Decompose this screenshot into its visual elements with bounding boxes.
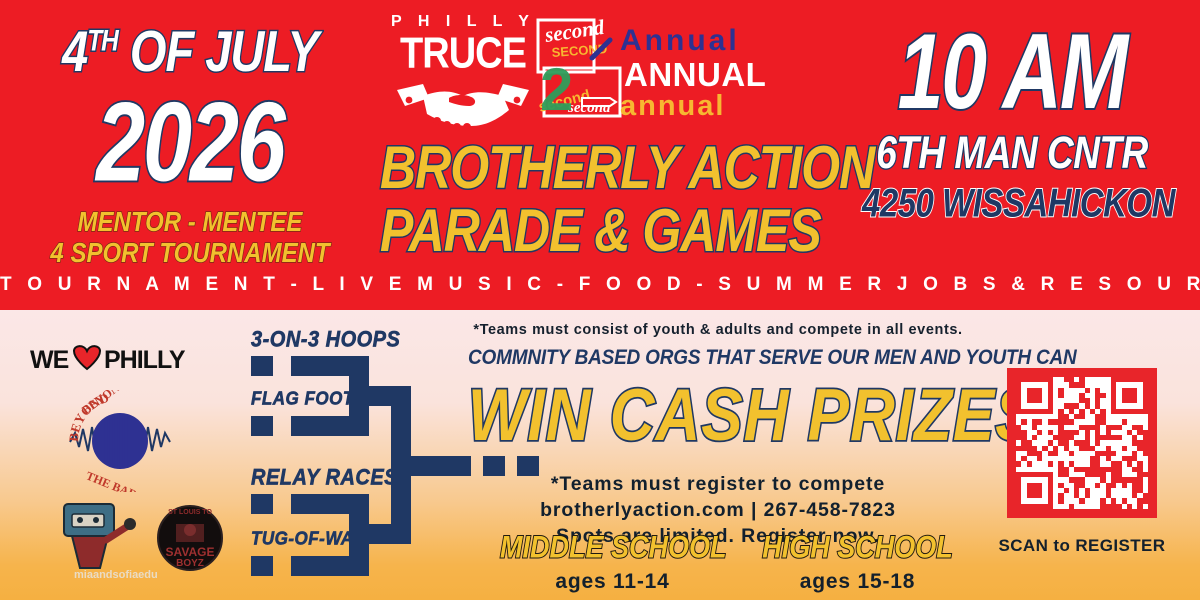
svg-text:ST LOUIS TO: ST LOUIS TO <box>168 509 212 516</box>
annual-blue-text: Annual <box>620 26 815 56</box>
date-year: 2026 <box>40 91 340 195</box>
headline-line-2: PARADE & GAMES <box>380 202 810 261</box>
sport-tournament-label: 4 SPORT TOURNAMENT <box>40 239 340 270</box>
philly-truce-wordmark-large: TRUCE <box>388 32 538 76</box>
svg-text:WE: WE <box>30 346 69 374</box>
qr-code-matrix <box>1016 377 1148 509</box>
svg-text:PHILLY: PHILLY <box>104 346 186 374</box>
date-subtitle: MENTOR - MENTEE 4 SPORT TOURNAMENT <box>40 208 340 270</box>
bracket-seed-box <box>251 556 273 576</box>
annual-yellow-text: annual <box>620 92 815 121</box>
svg-text:BEYOND: BEYOND <box>79 390 129 417</box>
bracket-connector <box>411 456 471 476</box>
beyond-the-bars-logo: BEYOND BEYOND THE BARS <box>64 390 174 490</box>
register-note: *Teams must register to compete <box>468 472 968 498</box>
date-block: 4TH OF JULY 2026 MENTOR - MENTEE 4 SPORT… <box>40 22 340 262</box>
bracket-seed-box <box>251 416 273 436</box>
annual-wordmark-stack: Annual ANNUAL annual <box>620 26 815 121</box>
svg-text:miaandsofiaedu: miaandsofiaedu <box>74 569 158 581</box>
age-divisions: MIDDLE SCHOOL ages 11-14 HIGH SCHOOL age… <box>500 532 970 594</box>
event-time: 10 AM <box>862 22 1162 123</box>
win-cash-prizes-headline: WIN CASH PRIZES <box>468 380 968 453</box>
svg-text:SAVAGE: SAVAGE <box>166 545 215 559</box>
event-flyer: 4TH OF JULY 2026 MENTOR - MENTEE 4 SPORT… <box>0 0 1200 600</box>
date-month: OF JULY <box>118 18 318 83</box>
svg-text:THE BARS: THE BARS <box>84 469 146 492</box>
top-red-banner: 4TH OF JULY 2026 MENTOR - MENTEE 4 SPORT… <box>0 0 1200 310</box>
bracket-connector <box>349 356 369 436</box>
bracket-seed-box <box>251 494 273 514</box>
savage-boyz-logo: ST LOUIS TO SAVAGE BOYZ <box>158 506 222 570</box>
qr-caption: SCAN to REGISTER <box>984 536 1180 556</box>
qr-register-block[interactable]: SCAN to REGISTER <box>984 368 1180 556</box>
philly-truce-logo: P H I L L Y TRUCE <box>388 14 538 139</box>
bracket-connector <box>391 386 411 544</box>
date-july-line: 4TH OF JULY <box>40 22 340 79</box>
logo-row: P H I L L Y TRUCE <box>380 10 810 135</box>
svg-text:2: 2 <box>540 56 573 123</box>
we-love-philly-logo: WE PHILLY <box>30 342 205 374</box>
svg-text:BOYZ: BOYZ <box>176 558 204 569</box>
handshake-icon <box>388 76 538 139</box>
bracket-label-relay: RELAY RACES <box>251 466 398 491</box>
division-high-school: HIGH SCHOOL ages 15-18 <box>745 532 970 594</box>
event-headline: BROTHERLY ACTION PARADE & GAMES <box>380 139 810 251</box>
division-ages: ages 11-14 <box>500 570 725 594</box>
division-title: HIGH SCHOOL <box>745 532 970 563</box>
bracket-seed-box <box>251 356 273 376</box>
features-ticker: T O U R N A M E N T - L I V E M U S I C … <box>0 274 1200 296</box>
event-venue: 6TH MAN CNTR <box>862 130 1162 175</box>
bottom-section: WE PHILLY BEYOND <box>0 310 1200 600</box>
date-day-ordinal: TH <box>87 25 118 58</box>
bracket-connector <box>349 494 369 574</box>
time-and-location-block: 10 AM 6TH MAN CNTR 4250 WISSAHICKON <box>862 22 1162 216</box>
center-logo-and-title: P H I L L Y TRUCE <box>380 10 810 251</box>
qr-code[interactable] <box>1007 368 1157 518</box>
philly-truce-wordmark-small: P H I L L Y <box>388 14 538 30</box>
orgs-eligibility-note: COMMNITY BASED ORGS THAT SERVE OUR MEN A… <box>468 346 968 371</box>
register-contact[interactable]: brotherlyaction.com | 267-458-7823 <box>468 498 968 524</box>
headline-line-1: BROTHERLY ACTION <box>380 139 810 198</box>
event-address: 4250 WISSAHICKON <box>862 183 1162 223</box>
prize-copy-block: *Teams must consist of youth & adults an… <box>468 322 968 550</box>
mentor-mentee-label: MENTOR - MENTEE <box>40 208 340 239</box>
sponsor-logos: WE PHILLY BEYOND <box>12 332 222 592</box>
sponsor-row-secondary: miaandsofiaedu ST LOUIS TO SAVAGE BOYZ <box>50 490 230 580</box>
teams-requirement-note: *Teams must consist of youth & adults an… <box>468 322 968 338</box>
bracket-label-hoops: 3-ON-3 HOOPS <box>251 328 400 353</box>
boombox-mascot-icon <box>64 504 136 568</box>
annual-white-text: ANNUAL <box>624 58 815 91</box>
date-day-number: 4 <box>62 18 87 83</box>
division-title: MIDDLE SCHOOL <box>500 532 725 563</box>
division-middle-school: MIDDLE SCHOOL ages 11-14 <box>500 532 725 594</box>
division-ages: ages 15-18 <box>745 570 970 594</box>
